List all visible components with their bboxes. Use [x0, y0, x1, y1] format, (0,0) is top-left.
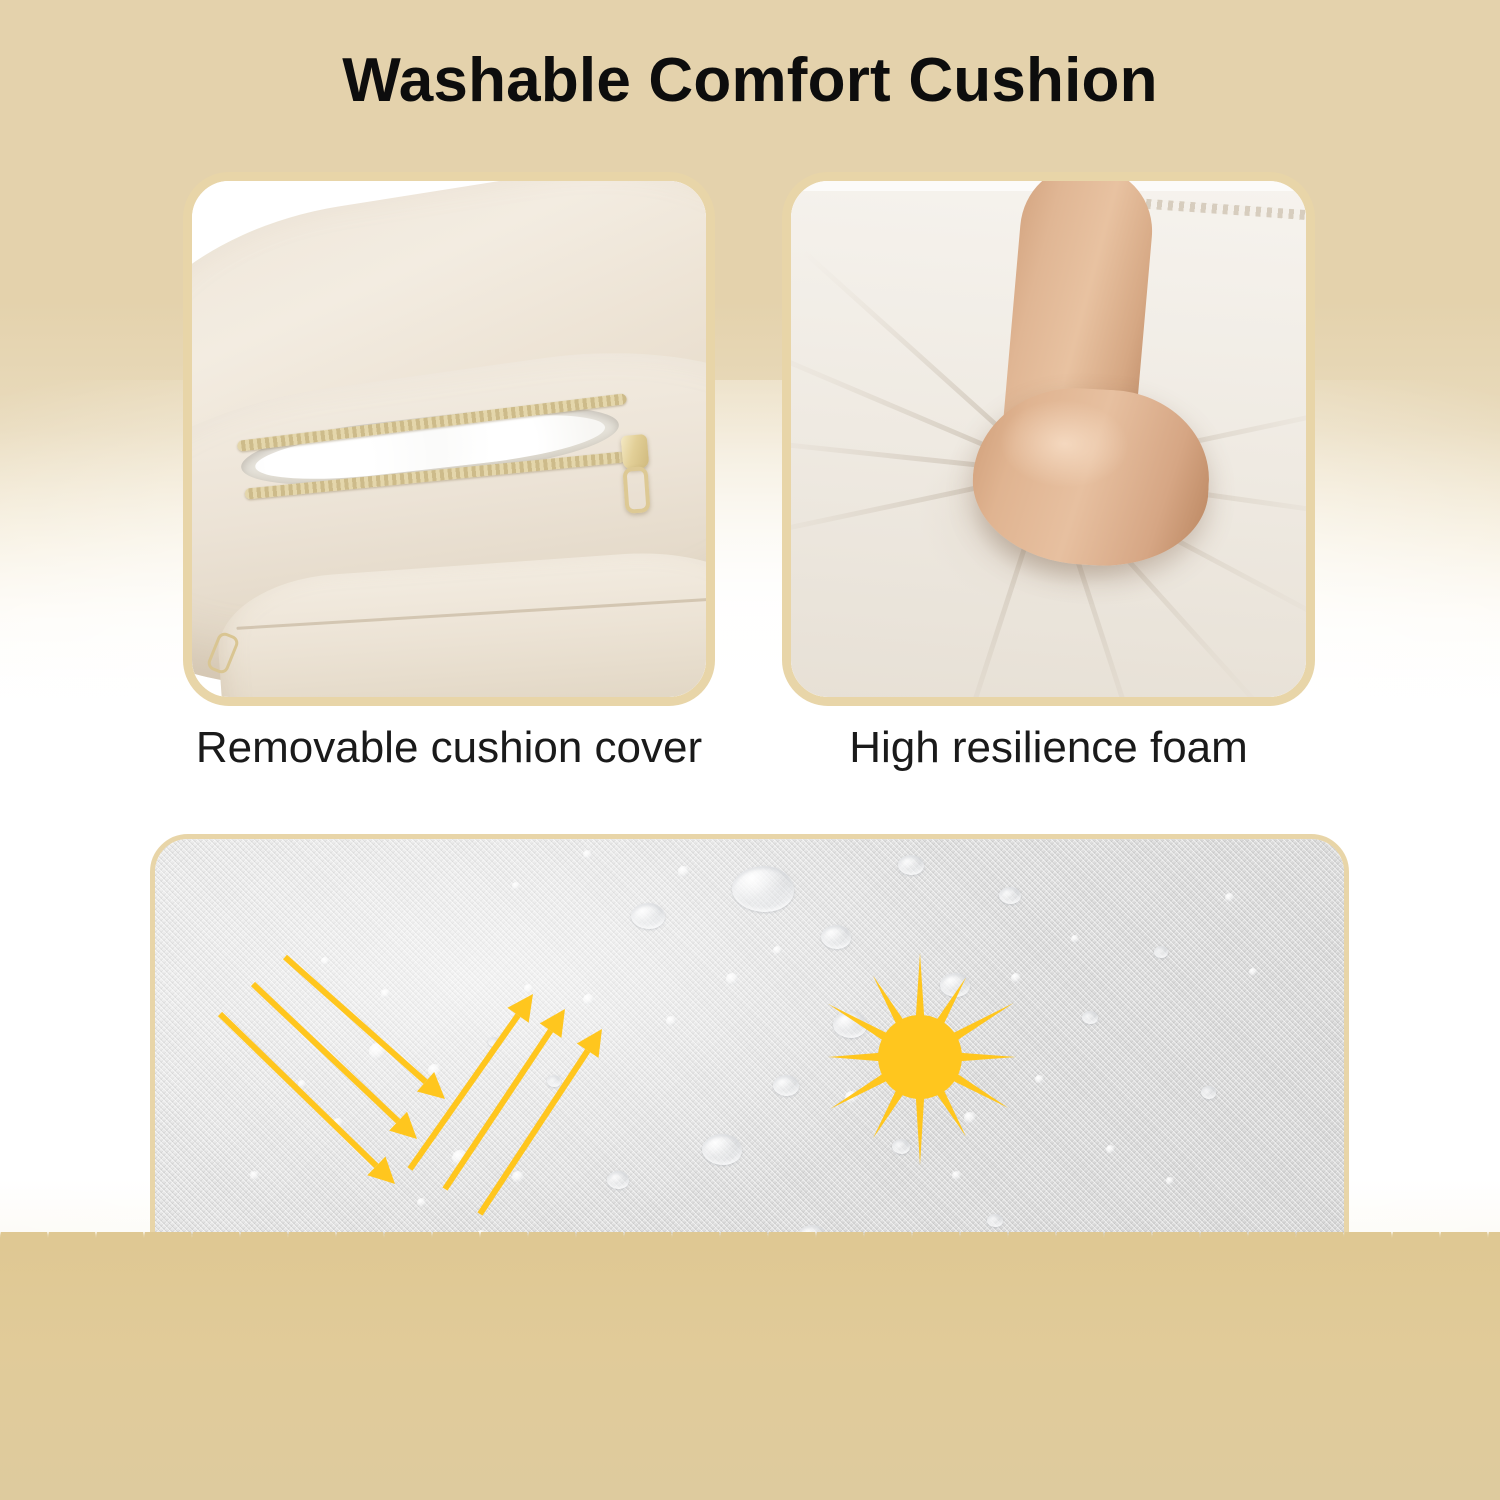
feature-card-removable-cover	[183, 172, 715, 706]
sun-icon	[828, 953, 1016, 1165]
bottom-scallop-band	[0, 1232, 1500, 1500]
ray-arrow	[480, 1029, 602, 1214]
infographic-canvas: Washable Comfort Cushion Removable cushi…	[0, 0, 1500, 1500]
photo-high-resilience-foam	[791, 181, 1306, 697]
page-title: Washable Comfort Cushion	[0, 48, 1500, 113]
feature-card-resilience-foam	[782, 172, 1315, 706]
ray-arrow	[253, 984, 417, 1139]
zipper-pull-icon	[622, 466, 650, 514]
scallop-band-fill	[0, 1246, 1500, 1500]
photo-removable-cushion-cover	[192, 181, 706, 697]
ray-arrow	[285, 957, 445, 1099]
caption-removable-cushion-cover: Removable cushion cover	[183, 724, 715, 772]
caption-high-resilience-foam: High resilience foam	[782, 724, 1315, 772]
zipper-slider-icon	[621, 434, 650, 470]
ray-arrow-group	[220, 957, 602, 1214]
